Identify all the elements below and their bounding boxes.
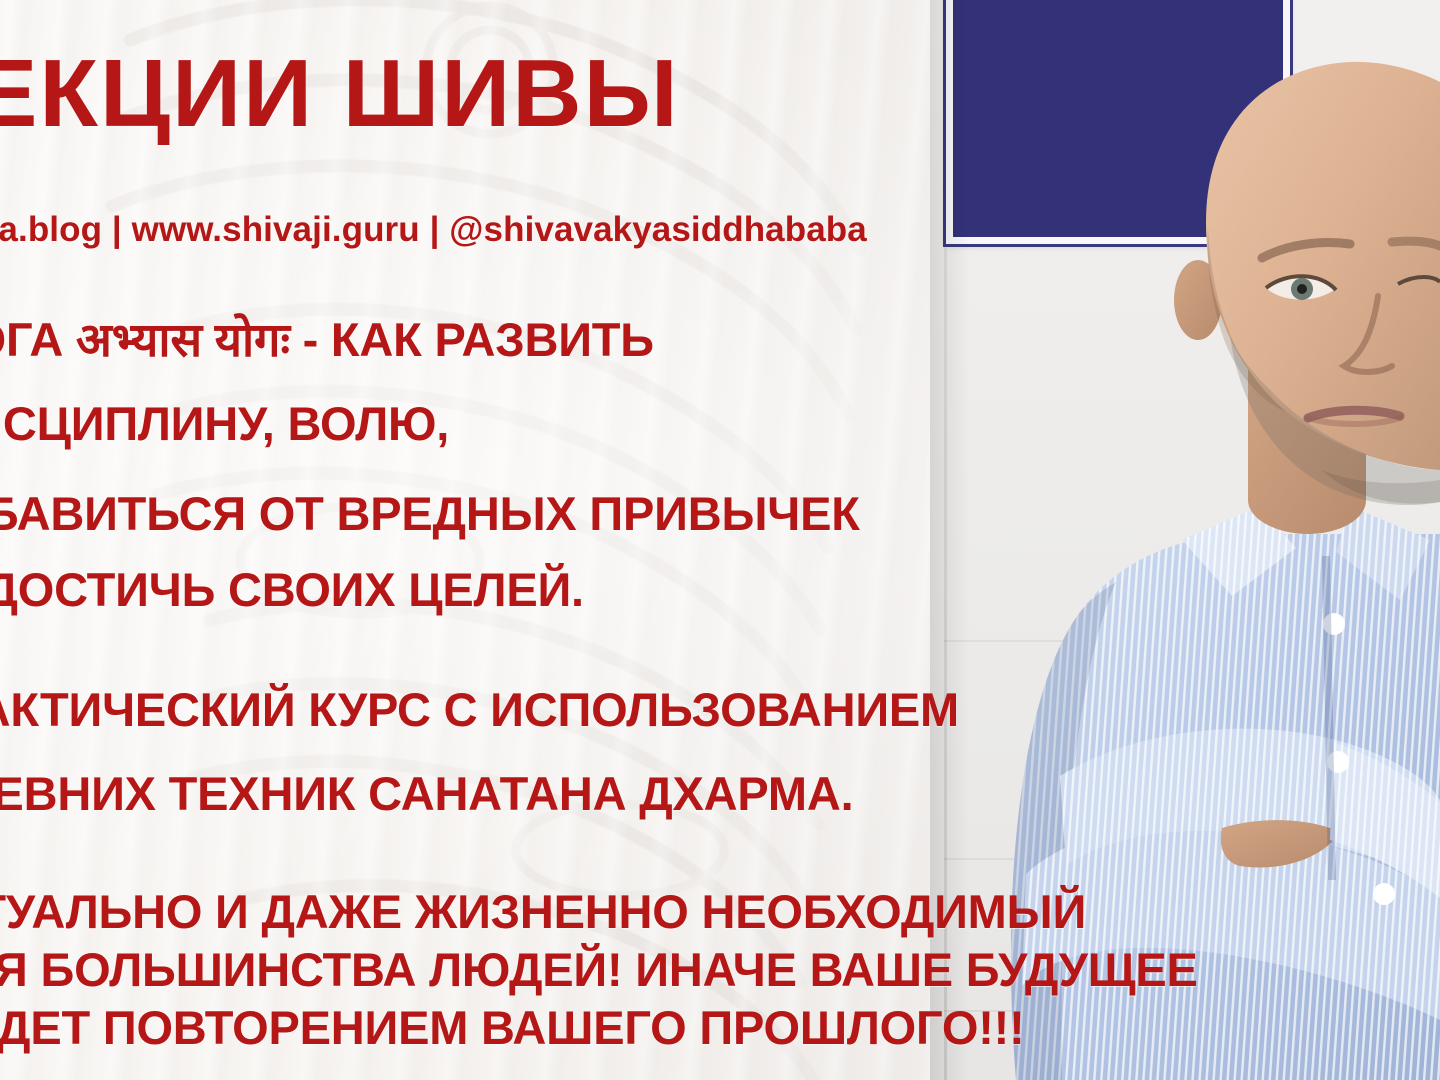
body-paragraph3-line2: ДЛЯ БОЛЬШИНСТВА ЛЮДЕЙ! ИНАЧЕ ВАШЕ БУДУЩЕ… (0, 942, 1198, 997)
body-paragraph1-line3: ИЗБАВИТЬСЯ ОТ ВРЕДНЫХ ПРИВЫЧЕК (0, 486, 860, 541)
body-paragraph2-line2: ДРЕВНИХ ТЕХНИК САНАТАНА ДХАРМА. (0, 766, 853, 821)
body-paragraph3-line1: АКТУАЛЬНО И ДАЖЕ ЖИЗНЕННО НЕОБХОДИМЫЙ (0, 884, 1086, 939)
website-social-links[interactable]: shiva.blog | www.shivaji.guru | @shivava… (0, 210, 867, 250)
body-paragraph2-line1: ПРАКТИЧЕСКИЙ КУРС С ИСПОЛЬЗОВАНИЕМ (0, 682, 959, 737)
body-paragraph1-line2: ДИСЦИПЛИНУ, ВОЛЮ, (0, 396, 449, 451)
body-paragraph1-line4: И ДОСТИЧЬ СВОИХ ЦЕЛЕЙ. (0, 562, 584, 617)
body-paragraph3-line3: БУДЕТ ПОВТОРЕНИЕМ ВАШЕГО ПРОШЛОГО!!! (0, 1000, 1025, 1055)
page-title: ЛЕКЦИИ ШИВЫ (0, 46, 680, 142)
body-paragraph1-line1: ЙОГА अभ्यास योगः - КАК РАЗВИТЬ (0, 306, 654, 370)
headline-text-column: ЛЕКЦИИ ШИВЫ shiva.blog | www.shivaji.gur… (0, 0, 960, 1080)
poster-canvas: ЛЕКЦИИ ШИВЫ shiva.blog | www.shivaji.gur… (0, 0, 1440, 1080)
